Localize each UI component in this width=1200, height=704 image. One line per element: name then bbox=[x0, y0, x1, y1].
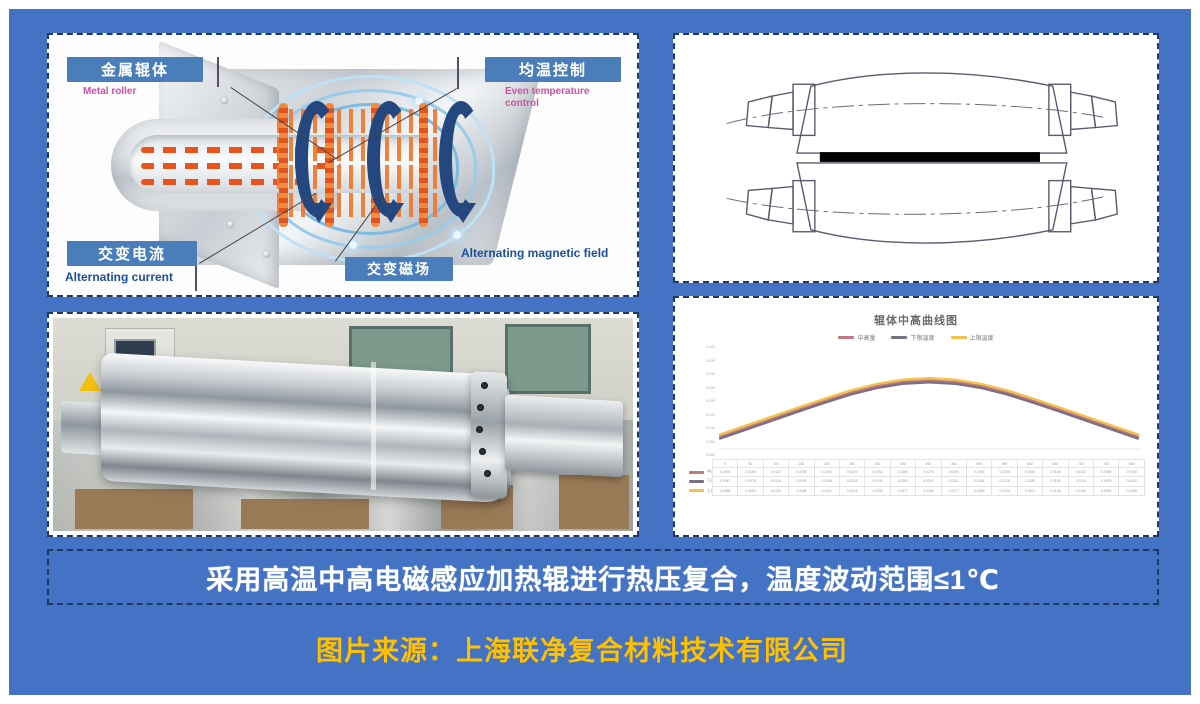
table-row: 下限温度0.00420.00780.01140.01500.01850.0218… bbox=[687, 477, 1145, 486]
table-cell: 0.0201 bbox=[814, 486, 839, 495]
label-metal-roller-en: Metal roller bbox=[83, 86, 213, 98]
legend-item-series-0: 中高量 bbox=[838, 333, 875, 342]
table-cell: 0.0185 bbox=[814, 477, 839, 486]
legend-label-series-1: 下限温度 bbox=[910, 333, 934, 342]
coil-winding bbox=[273, 193, 441, 217]
table-cell: 0.0042 bbox=[712, 477, 737, 486]
y-tick-label: 0.040 bbox=[706, 345, 715, 349]
coil-riser bbox=[419, 103, 428, 227]
leader-line bbox=[217, 57, 219, 87]
table-cell: 0.0267 bbox=[916, 477, 941, 486]
y-tick-label: 0.010 bbox=[706, 426, 715, 430]
label-alternating-current-en: Alternating current bbox=[65, 271, 275, 285]
table-column-header: 650 bbox=[1043, 460, 1068, 468]
table-cell: 0.0277 bbox=[890, 486, 915, 495]
table-column-header: 350 bbox=[890, 460, 915, 468]
table-cell: 0.0185 bbox=[1017, 477, 1042, 486]
roller-photograph bbox=[53, 318, 633, 531]
table-row: 上限温度0.00580.00940.01300.01660.02010.0234… bbox=[687, 486, 1145, 495]
legend-swatch-icon bbox=[891, 336, 907, 339]
y-tick-label: 0.030 bbox=[706, 372, 715, 376]
roller-pair-drawing bbox=[681, 41, 1151, 275]
label-even-temperature-control-cn: 均温控制 bbox=[519, 59, 587, 80]
chart-plot-area bbox=[717, 345, 1141, 457]
table-row: 中高量0.00500.00860.01220.01580.01930.02260… bbox=[687, 468, 1145, 477]
table-cell: 0.0042 bbox=[1119, 477, 1145, 486]
housing-bolt-icon bbox=[227, 221, 234, 228]
flange-bolt bbox=[479, 448, 486, 455]
chart-data-table: 0501001502002503003504004505005506006507… bbox=[687, 459, 1145, 496]
table-cell: 0.0050 bbox=[712, 468, 737, 477]
table-column-header: 450 bbox=[941, 460, 966, 468]
roller-flange bbox=[471, 371, 507, 499]
table-cell: 0.0201 bbox=[1017, 486, 1042, 495]
roller-highlight-band bbox=[371, 362, 376, 490]
leader-line bbox=[457, 57, 459, 89]
label-alternating-magnetic-field-en: Alternating magnetic field bbox=[461, 247, 621, 261]
table-cell: 0.0050 bbox=[1119, 468, 1145, 477]
table-cell: 0.0114 bbox=[1068, 477, 1093, 486]
wood-support-block bbox=[559, 475, 629, 529]
lower-journal-right-outer bbox=[1092, 188, 1118, 219]
roller-photo-panel bbox=[47, 312, 639, 537]
table-column-header: 700 bbox=[1068, 460, 1093, 468]
label-even-temperature-control: 均温控制 bbox=[485, 57, 621, 82]
table-cell: 0.0086 bbox=[738, 468, 763, 477]
table-cell: 0.0234 bbox=[839, 486, 864, 495]
label-alternating-current-cn: 交变电流 bbox=[98, 243, 166, 264]
label-alternating-magnetic-field-cn: 交变磁场 bbox=[367, 259, 431, 279]
roller-shaft bbox=[505, 395, 623, 478]
series-line-1 bbox=[720, 382, 1138, 438]
table-cell: 0.0226 bbox=[839, 468, 864, 477]
table-swatch-icon bbox=[689, 471, 704, 474]
table-cell: 0.0122 bbox=[1068, 468, 1093, 477]
table-column-header: 500 bbox=[966, 460, 991, 468]
table-swatch-icon bbox=[689, 480, 704, 483]
polished-roller-body bbox=[101, 353, 511, 504]
y-tick-label: 0.005 bbox=[706, 440, 715, 444]
label-metal-roller: 金属辊体 bbox=[67, 57, 203, 82]
table-cell: 0.0094 bbox=[1094, 486, 1119, 495]
y-tick-label: 0.035 bbox=[706, 359, 715, 363]
table-cell: 0.0058 bbox=[1119, 486, 1145, 495]
table-cell: 0.0218 bbox=[992, 477, 1017, 486]
table-column-header: 100 bbox=[763, 460, 788, 468]
illustration-canvas: 金属辊体 Metal roller 均温控制 Even temperature … bbox=[49, 35, 637, 295]
table-cell: 0.0218 bbox=[839, 477, 864, 486]
table-cell: 0.0114 bbox=[763, 477, 788, 486]
table-cell: 0.0086 bbox=[1094, 468, 1119, 477]
legend-item-series-2: 上限温度 bbox=[951, 333, 994, 342]
label-metal-roller-cn: 金属辊体 bbox=[101, 59, 169, 80]
label-alternating-current: 交变电流 bbox=[67, 241, 197, 266]
table-header-row: 0501001502002503003504004505005506006507… bbox=[687, 460, 1145, 468]
y-tick-label: 0.015 bbox=[706, 413, 715, 417]
table-cell: 0.0150 bbox=[789, 477, 814, 486]
table-cell: 0.0244 bbox=[966, 477, 991, 486]
y-tick-label: 0.020 bbox=[706, 399, 715, 403]
series-line-2 bbox=[720, 378, 1138, 434]
table-column-header: 800 bbox=[1119, 460, 1145, 468]
table-swatch-icon bbox=[689, 489, 704, 492]
lower-journal-left-outer bbox=[746, 188, 772, 219]
upper-journal-left-outer bbox=[746, 96, 772, 127]
table-cell: 0.0193 bbox=[814, 468, 839, 477]
table-cell: 0.0261 bbox=[941, 477, 966, 486]
workshop-window bbox=[505, 324, 591, 394]
rotation-arrow-icon bbox=[439, 101, 483, 217]
y-tick-label: 0.000 bbox=[706, 453, 715, 457]
legend-label-series-2: 上限温度 bbox=[970, 333, 994, 342]
chart-title: 辊体中高曲线图 bbox=[687, 312, 1145, 328]
legend-swatch-icon bbox=[951, 336, 967, 339]
table-column-header: 50 bbox=[738, 460, 763, 468]
label-even-temperature-control-en: Even temperature control bbox=[505, 86, 625, 109]
flange-bolt bbox=[484, 470, 491, 477]
table-cell: 0.0226 bbox=[992, 468, 1017, 477]
chart-plot: 0.0400.0350.0300.0250.0200.0150.0100.005… bbox=[689, 345, 1143, 457]
wood-support-block bbox=[75, 489, 193, 529]
roller-crown-chart-panel: 辊体中高曲线图 中高量 下限温度 上限温度 0.0400.0350.0300.0… bbox=[673, 296, 1159, 537]
table-cell: 0.0269 bbox=[941, 468, 966, 477]
chart-series-paths bbox=[717, 345, 1141, 457]
table-column-header: 300 bbox=[865, 460, 890, 468]
caption-banner: 采用高温中高电磁感应加热辊进行热压复合，温度波动范围≤1℃ bbox=[47, 549, 1159, 605]
housing-bolt-icon bbox=[221, 97, 228, 104]
flange-bolt bbox=[477, 404, 484, 411]
slide-canvas: 金属辊体 Metal roller 均温控制 Even temperature … bbox=[9, 9, 1191, 695]
wood-support-block bbox=[241, 499, 369, 529]
roller-pair-schematic-panel bbox=[673, 33, 1159, 283]
table-cell: 0.0193 bbox=[1017, 468, 1042, 477]
table-row-header-1: 下限温度 bbox=[687, 477, 712, 486]
table-cell: 0.0269 bbox=[890, 468, 915, 477]
table-column-header: 400 bbox=[916, 460, 941, 468]
table-cell: 0.0260 bbox=[865, 486, 890, 495]
y-tick-label: 0.025 bbox=[706, 386, 715, 390]
table-cell: 0.0166 bbox=[1043, 486, 1068, 495]
table-cell: 0.0275 bbox=[916, 468, 941, 477]
table-cell: 0.0158 bbox=[1043, 468, 1068, 477]
table-column-header: 750 bbox=[1094, 460, 1119, 468]
table-column-header: 150 bbox=[789, 460, 814, 468]
table-cell: 0.0078 bbox=[738, 477, 763, 486]
table-column-header: 0 bbox=[712, 460, 737, 468]
table-cell: 0.0234 bbox=[992, 486, 1017, 495]
table-cell: 0.0260 bbox=[966, 486, 991, 495]
table-cell: 0.0277 bbox=[941, 486, 966, 495]
source-text: 图片来源：上海联净复合材料技术有限公司 bbox=[316, 636, 848, 666]
legend-swatch-icon bbox=[838, 336, 854, 339]
table-cell: 0.0252 bbox=[966, 468, 991, 477]
chart-legend: 中高量 下限温度 上限温度 bbox=[687, 333, 1145, 342]
table-cell: 0.0252 bbox=[865, 468, 890, 477]
legend-label-series-0: 中高量 bbox=[857, 333, 875, 342]
legend-item-series-1: 下限温度 bbox=[891, 333, 934, 342]
table-column-header: 250 bbox=[839, 460, 864, 468]
table-cell: 0.0130 bbox=[1068, 486, 1093, 495]
upper-journal-right-outer bbox=[1092, 96, 1118, 127]
table-cell: 0.0078 bbox=[1094, 477, 1119, 486]
table-column-header: 550 bbox=[992, 460, 1017, 468]
table-cell: 0.0150 bbox=[1043, 477, 1068, 486]
chart-container: 辊体中高曲线图 中高量 下限温度 上限温度 0.0400.0350.0300.0… bbox=[681, 304, 1151, 529]
table-cell: 0.0122 bbox=[763, 468, 788, 477]
flange-bolt bbox=[481, 382, 488, 389]
table-cell: 0.0094 bbox=[738, 486, 763, 495]
table-column-header: 200 bbox=[814, 460, 839, 468]
flange-bolt bbox=[476, 426, 483, 433]
chart-y-axis: 0.0400.0350.0300.0250.0200.0150.0100.005… bbox=[689, 345, 715, 457]
table-body: 中高量0.00500.00860.01220.01580.01930.02260… bbox=[687, 468, 1145, 496]
schematic-canvas bbox=[681, 41, 1151, 275]
table-cell: 0.0244 bbox=[865, 477, 890, 486]
table-cell: 0.0058 bbox=[712, 486, 737, 495]
lower-roller-collar-left bbox=[793, 181, 815, 232]
table-row-header-2: 上限温度 bbox=[687, 486, 712, 495]
table-cell: 0.0130 bbox=[763, 486, 788, 495]
warning-sign-icon bbox=[79, 372, 101, 391]
upper-roller-barrel bbox=[797, 73, 1067, 153]
series-line-0 bbox=[720, 380, 1138, 436]
source-attribution: 图片来源：上海联净复合材料技术有限公司 bbox=[9, 629, 1191, 668]
induction-roller-illustration-panel: 金属辊体 Metal roller 均温控制 Even temperature … bbox=[47, 33, 639, 297]
flux-sparkle-icon bbox=[349, 241, 357, 249]
table-corner-cell bbox=[687, 460, 712, 468]
table-cell: 0.0283 bbox=[916, 486, 941, 495]
flux-sparkle-icon bbox=[453, 231, 461, 239]
housing-bolt-icon bbox=[263, 251, 270, 258]
lower-roller-barrel bbox=[797, 163, 1067, 243]
table-cell: 0.0261 bbox=[890, 477, 915, 486]
label-alternating-magnetic-field: 交变磁场 bbox=[345, 257, 453, 281]
composite-sheet bbox=[820, 152, 1040, 162]
caption-text: 采用高温中高电磁感应加热辊进行热压复合，温度波动范围≤1℃ bbox=[206, 558, 1000, 597]
table-cell: 0.0166 bbox=[789, 486, 814, 495]
table-row-header-0: 中高量 bbox=[687, 468, 712, 477]
table-cell: 0.0158 bbox=[789, 468, 814, 477]
table-column-header: 600 bbox=[1017, 460, 1042, 468]
